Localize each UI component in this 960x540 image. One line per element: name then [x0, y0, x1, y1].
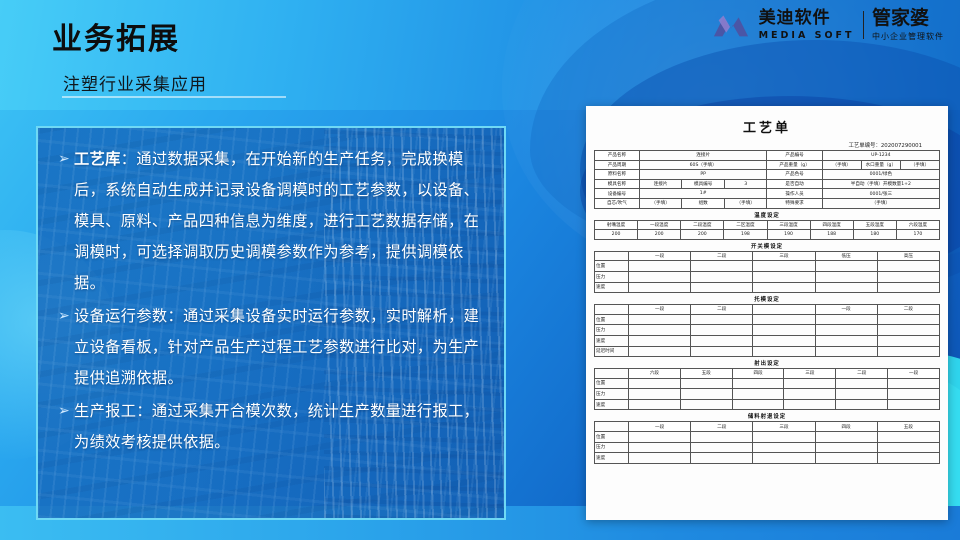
table-row-header: 位置: [595, 432, 629, 443]
table-label-cell: 产品色号: [767, 170, 822, 180]
table-label-cell: 二段: [691, 251, 753, 261]
table-header-row: 六段五段四段三段二段一段: [595, 369, 940, 379]
info-table: 产品名称连接片产品编号UP-1234产品周期60S（手填）产品重量（g）（手填）…: [594, 150, 940, 209]
table-label-cell: 六段温度: [896, 220, 939, 230]
table-value-cell: [629, 432, 691, 443]
table-value-cell: 188: [810, 230, 853, 240]
table-value-cell: 连接片: [639, 151, 767, 161]
document-number: 工艺单编号：202007290001: [594, 141, 940, 149]
table-row: 压力: [595, 389, 940, 400]
page-subtitle: 注塑行业采集应用: [63, 70, 207, 95]
table-label-cell: 是否自动: [767, 179, 822, 189]
table-row-header: 速度: [595, 282, 629, 293]
bullet-text: 设备运行参数：通过采集设备实时运行参数，实时解析，建立设备看板，针对产品生产过程…: [74, 301, 482, 394]
table-label-cell: 一段: [629, 251, 691, 261]
table-label-cell: 二段: [877, 305, 939, 315]
table-header-row: 一段二段一段二段: [595, 305, 940, 315]
table-value-cell: [877, 442, 939, 453]
table-value-cell: [815, 453, 877, 464]
table-label-cell: 四段: [815, 422, 877, 432]
table-value-cell: [691, 314, 753, 325]
table-value-cell: [784, 378, 836, 389]
table-value-cell: [815, 432, 877, 443]
table-value-cell: [680, 399, 732, 410]
table-value-cell: [836, 389, 888, 400]
table-row-header: 压力: [595, 389, 629, 400]
title-underline: [62, 96, 286, 98]
table-value-cell: [877, 325, 939, 336]
table-row-header: 速度: [595, 399, 629, 410]
table-row-header: 压力: [595, 325, 629, 336]
table-label-cell: 六段: [629, 369, 681, 379]
bullet-keyword: 工艺库: [74, 150, 121, 168]
bullet-text: 生产报工：通过采集开合模次数，统计生产数量进行报工，为绩效考核提供依据。: [74, 396, 482, 458]
table-header-row: 一段二段三段低压高压: [595, 251, 940, 261]
table-value-cell: [877, 282, 939, 293]
table-value-cell: [815, 282, 877, 293]
table-value-cell: [629, 399, 681, 410]
table-label-cell: 产品名称: [595, 151, 640, 161]
document-title: 工艺单: [594, 117, 940, 136]
table-header-row: 射嘴温度一段温度二段温度二区温度三段温度四段温度五段温度六段温度: [595, 220, 940, 230]
table-value-cell: [629, 442, 691, 453]
table-label-cell: [595, 369, 629, 379]
document-number-label: 工艺单编号：: [848, 143, 880, 149]
table-value-cell: 200: [681, 230, 724, 240]
table-row: 模具名称连接片模具编号3是否自动半自动（手填）开模数量1+2: [595, 179, 940, 189]
table-value-cell: 连接片: [639, 179, 682, 189]
media-soft-logo-icon: [712, 11, 750, 39]
table-value-cell: [753, 271, 815, 282]
bullet-item: ➢生产报工：通过采集开合模次数，统计生产数量进行报工，为绩效考核提供依据。: [58, 396, 482, 458]
table-value-cell: 180: [853, 230, 896, 240]
table-label-cell: 射嘴温度: [595, 220, 638, 230]
table-value-cell: [753, 335, 815, 346]
table-value-cell: [691, 325, 753, 336]
bullet-text: 工艺库：通过数据采集，在开始新的生产任务，完成换模后，系统自动生成并记录设备调模…: [74, 144, 482, 299]
logo-brand-en: MEDIA SOFT: [759, 30, 855, 41]
bullet-arrow-icon: ➢: [58, 396, 74, 427]
table-row: 速度: [595, 282, 940, 293]
section-title: 开关模设定: [594, 240, 940, 251]
logo-product-sub: 中小企业管理软件: [872, 31, 944, 42]
table-row-header: 延迟时间: [595, 346, 629, 357]
table-value-cell: [888, 389, 940, 400]
table-label-cell: 模具名称: [595, 179, 640, 189]
table-label-cell: 产品周期: [595, 160, 640, 170]
table-value-cell: [815, 442, 877, 453]
table-label-cell: [595, 422, 629, 432]
table-value-cell: 200: [638, 230, 681, 240]
logo-product-cn: 管家婆: [872, 9, 944, 29]
table-value-cell: [691, 335, 753, 346]
table-label-cell: 二段: [691, 305, 753, 315]
table-value-cell: [815, 346, 877, 357]
table-row: 速度: [595, 335, 940, 346]
table-value-cell: UP-1234: [822, 151, 939, 161]
table-value-cell: 1#: [639, 189, 767, 199]
table-label-cell: [595, 305, 629, 315]
table-value-cell: [753, 261, 815, 272]
document-body: 产品名称连接片产品编号UP-1234产品周期60S（手填）产品重量（g）（手填）…: [594, 150, 940, 464]
table-row: 位置: [595, 378, 940, 389]
table-value-cell: [680, 378, 732, 389]
table-value-cell: [877, 335, 939, 346]
table-label-cell: 二段: [691, 422, 753, 432]
table-value-cell: [753, 453, 815, 464]
page-title: 业务拓展: [52, 14, 180, 58]
logo-divider: [863, 11, 865, 39]
table-value-cell: [732, 378, 784, 389]
table-value-cell: （手填）: [724, 198, 767, 208]
table-value-cell: 200: [595, 230, 638, 240]
table-value-cell: PP: [639, 170, 767, 180]
table-label-cell: 水口重量（g）: [861, 160, 900, 170]
table-row-header: 位置: [595, 261, 629, 272]
table-value-cell: [815, 325, 877, 336]
brand-logo: 美迪软件 MEDIA SOFT 管家婆 中小企业管理软件: [712, 9, 944, 42]
table-row-header: 速度: [595, 335, 629, 346]
table-value-cell: [877, 261, 939, 272]
table-value-cell: 0001/绿色: [822, 170, 939, 180]
section-title: 储料射退设定: [594, 410, 940, 421]
table-label-cell: 产品编号: [767, 151, 822, 161]
table-label-cell: 组数: [682, 198, 725, 208]
section-title: 射出设定: [594, 357, 940, 368]
table-value-cell: （手填）: [900, 160, 939, 170]
table-label-cell: 三段温度: [767, 220, 810, 230]
table-value-cell: [691, 346, 753, 357]
table-row: 位置: [595, 261, 940, 272]
table-label-cell: [753, 305, 815, 315]
table-label-cell: 原料名称: [595, 170, 640, 180]
table-value-cell: [888, 399, 940, 410]
table-label-cell: 一段: [629, 422, 691, 432]
table-label-cell: 五段温度: [853, 220, 896, 230]
table-value-cell: [691, 453, 753, 464]
table-row: 压力: [595, 442, 940, 453]
table-value-cell: [877, 271, 939, 282]
table-value-cell: [888, 378, 940, 389]
table-value-cell: [877, 346, 939, 357]
table-label-cell: 操作人员: [767, 189, 822, 199]
table-value-cell: [877, 453, 939, 464]
table-label-cell: 一段: [629, 305, 691, 315]
table-value-cell: [815, 335, 877, 346]
table-label-cell: 二区温度: [724, 220, 767, 230]
table-value-cell: 198: [724, 230, 767, 240]
table-value-cell: [753, 442, 815, 453]
bullet-arrow-icon: ➢: [58, 301, 74, 332]
table-value-cell: [629, 453, 691, 464]
table-value-cell: [629, 346, 691, 357]
table-label-cell: [595, 251, 629, 261]
table-value-cell: [629, 335, 691, 346]
table-row: 延迟时间: [595, 346, 940, 357]
table-value-cell: [691, 282, 753, 293]
bullet-arrow-icon: ➢: [58, 144, 74, 175]
table-value-cell: 170: [896, 230, 939, 240]
section-table: 射嘴温度一段温度二段温度二区温度三段温度四段温度五段温度六段温度20020020…: [594, 220, 940, 240]
table-value-cell: 190: [767, 230, 810, 240]
table-value-cell: [877, 314, 939, 325]
table-label-cell: 五段: [680, 369, 732, 379]
table-value-cell: [836, 399, 888, 410]
document-number-value: 202007290001: [881, 143, 922, 149]
bullet-item: ➢工艺库：通过数据采集，在开始新的生产任务，完成换模后，系统自动生成并记录设备调…: [58, 144, 482, 299]
table-label-cell: 五段: [877, 422, 939, 432]
table-label-cell: 三段: [753, 422, 815, 432]
table-value-cell: [877, 432, 939, 443]
table-value-cell: [815, 314, 877, 325]
table-value-cell: [691, 271, 753, 282]
table-row: 原料名称PP产品色号0001/绿色: [595, 170, 940, 180]
table-row-header: 压力: [595, 271, 629, 282]
table-value-cell: [732, 399, 784, 410]
table-value-cell: （手填）: [822, 160, 861, 170]
table-row: 位置: [595, 314, 940, 325]
bullet-list: ➢工艺库：通过数据采集，在开始新的生产任务，完成换模后，系统自动生成并记录设备调…: [38, 128, 504, 458]
table-row-header: 位置: [595, 314, 629, 325]
table-value-cell: [753, 314, 815, 325]
table-label-cell: 二段: [836, 369, 888, 379]
table-value-cell: [784, 389, 836, 400]
table-label-cell: 高压: [877, 251, 939, 261]
table-label-cell: 低压: [815, 251, 877, 261]
bullet-item: ➢设备运行参数：通过采集设备实时运行参数，实时解析，建立设备看板，针对产品生产过…: [58, 301, 482, 394]
table-value-cell: [815, 261, 877, 272]
process-sheet-document: 工艺单 工艺单编号：202007290001 产品名称连接片产品编号UP-123…: [586, 106, 948, 520]
table-row-header: 位置: [595, 378, 629, 389]
table-row: 压力: [595, 271, 940, 282]
content-panel: ➢工艺库：通过数据采集，在开始新的生产任务，完成换模后，系统自动生成并记录设备调…: [36, 126, 506, 520]
section-title: 托模设定: [594, 293, 940, 304]
table-value-cell: [629, 271, 691, 282]
table-value-cell: [753, 325, 815, 336]
table-value-cell: [691, 432, 753, 443]
section-table: 六段五段四段三段二段一段位置压力速度: [594, 368, 940, 410]
table-value-cell: [691, 442, 753, 453]
table-label-cell: 设备编号: [595, 189, 640, 199]
table-row-header: 速度: [595, 453, 629, 464]
section-title: 温度设定: [594, 209, 940, 220]
table-value-cell: [753, 282, 815, 293]
table-label-cell: 特殊要求: [767, 198, 822, 208]
table-value-cell: [784, 399, 836, 410]
table-row: 产品名称连接片产品编号UP-1234: [595, 151, 940, 161]
section-table: 一段二段三段低压高压位置压力速度: [594, 251, 940, 293]
table-value-cell: 半自动（手填）开模数量1+2: [822, 179, 939, 189]
table-row: 产品周期60S（手填）产品重量（g）（手填）水口重量（g）（手填）: [595, 160, 940, 170]
table-value-cell: [629, 282, 691, 293]
table-value-cell: （手填）: [822, 198, 939, 208]
table-header-row: 一段二段三段四段五段: [595, 422, 940, 432]
table-value-cell: [836, 378, 888, 389]
table-value-cell: [753, 432, 815, 443]
table-value-cell: [629, 261, 691, 272]
table-value-cell: [629, 325, 691, 336]
table-value-cell: [629, 389, 681, 400]
section-table: 一段二段三段四段五段位置压力速度: [594, 421, 940, 463]
table-row: 速度: [595, 453, 940, 464]
logo-brand-cn: 美迪软件: [759, 10, 855, 28]
table-value-cell: 60S（手填）: [639, 160, 767, 170]
table-label-cell: 三段: [753, 251, 815, 261]
table-value-cell: [753, 346, 815, 357]
table-row-header: 压力: [595, 442, 629, 453]
table-row: 设备编号1#操作人员0001/张三: [595, 189, 940, 199]
table-value-cell: [629, 314, 691, 325]
table-value-cell: [629, 378, 681, 389]
table-row: 压力: [595, 325, 940, 336]
table-label-cell: 模具编号: [682, 179, 725, 189]
table-label-cell: 一段: [888, 369, 940, 379]
table-label-cell: 四段: [732, 369, 784, 379]
table-label-cell: 产品重量（g）: [767, 160, 822, 170]
table-label-cell: 自芯/吹气: [595, 198, 640, 208]
table-label-cell: 一段温度: [638, 220, 681, 230]
table-row: 位置: [595, 432, 940, 443]
table-value-cell: [815, 271, 877, 282]
table-label-cell: 四段温度: [810, 220, 853, 230]
table-label-cell: 一段: [815, 305, 877, 315]
section-table: 一段二段一段二段位置压力速度延迟时间: [594, 304, 940, 357]
table-value-cell: [680, 389, 732, 400]
table-label-cell: 三段: [784, 369, 836, 379]
table-value-cell: [691, 261, 753, 272]
table-row: 自芯/吹气（手填）组数（手填）特殊要求（手填）: [595, 198, 940, 208]
table-label-cell: 二段温度: [681, 220, 724, 230]
table-value-cell: 0001/张三: [822, 189, 939, 199]
table-value-cell: （手填）: [639, 198, 682, 208]
table-value-cell: [732, 389, 784, 400]
table-row: 速度: [595, 399, 940, 410]
table-value-cell: 3: [724, 179, 767, 189]
table-row: 200200200198190188180170: [595, 230, 940, 240]
